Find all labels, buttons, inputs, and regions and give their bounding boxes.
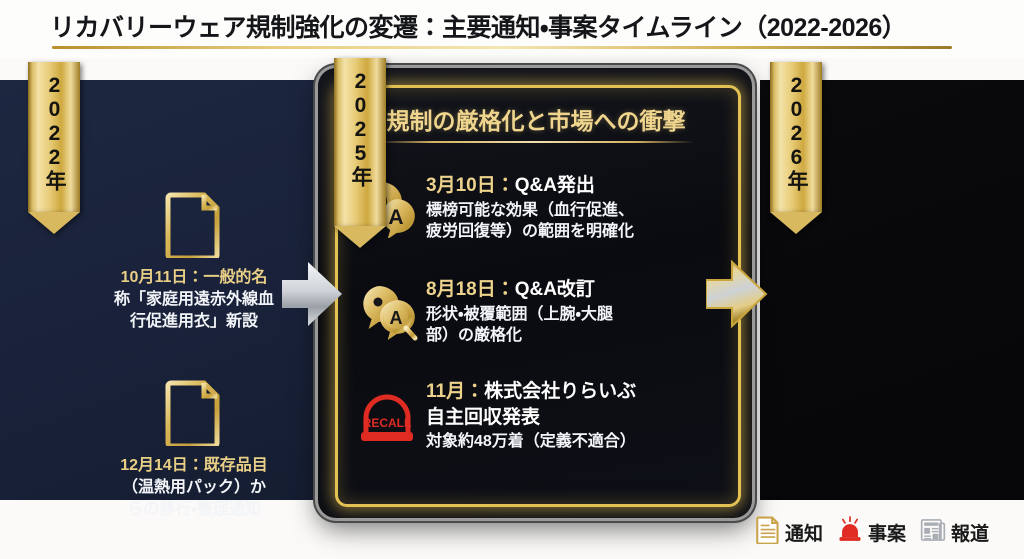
legend-label: 通知 bbox=[785, 519, 823, 546]
ribbon-label: 2025年 bbox=[334, 58, 386, 200]
event-desc-line: 行促進用衣」新設 bbox=[96, 311, 292, 333]
legend-item-press: 報道 bbox=[920, 517, 989, 548]
event-title-rest: Q&A改訂 bbox=[515, 279, 595, 300]
event-date: 11月： bbox=[426, 381, 484, 402]
event-desc-line: らの移行・整理通知 bbox=[96, 499, 292, 521]
event-title: 3月10日：Q&A発出 bbox=[426, 174, 718, 199]
arrow-2025-to-2026 bbox=[706, 258, 768, 330]
event-2025-recall-november: RECALL 11月：株式会社りらいぶ 自主回収発表 対象約48万着（定義不適合… bbox=[356, 380, 718, 453]
card-heading-rule bbox=[376, 141, 694, 143]
event-2022-notice-1214: 12月14日：既存品目 （温熱用パック）か らの移行・整理通知 bbox=[96, 380, 292, 521]
event-2025-qa-0310: Q A 3月10日：Q&A発出 標榜可能な効果（血行促進、 疲労回復等）の範囲を… bbox=[356, 174, 718, 243]
ribbon-label: 2022年 bbox=[28, 62, 80, 204]
event-desc-line: 標榜可能な効果（血行促進、 bbox=[426, 200, 718, 221]
event-title: 10月11日：一般的名 bbox=[96, 267, 292, 289]
ribbon-tail bbox=[334, 226, 386, 248]
ribbon-2026: 2026年 bbox=[770, 62, 822, 234]
ribbon-tail bbox=[770, 212, 822, 234]
event-title-rest: 株式会社りらいぶ bbox=[484, 381, 636, 402]
ribbon-2022: 2022年 bbox=[28, 62, 80, 234]
event-title-rest: Q&A発出 bbox=[515, 175, 595, 196]
ribbon-tail bbox=[28, 212, 80, 234]
title-gold-rule bbox=[52, 46, 952, 49]
qa-magnifier-icon: A bbox=[356, 284, 418, 347]
event-title: 12月14日：既存品目 bbox=[96, 455, 292, 477]
title-bar: リカバリーウェア規制強化の変遷：主要通知・事案タイムライン（2022-2026） bbox=[0, 0, 1024, 58]
ribbon-body: 2022年 bbox=[28, 62, 80, 212]
arrow-2022-to-2025 bbox=[282, 258, 344, 330]
event-desc-line: （温熱用パック）か bbox=[96, 477, 292, 499]
document-icon bbox=[96, 380, 292, 451]
svg-text:RECALL: RECALL bbox=[363, 416, 412, 430]
legend: 通知 事案 bbox=[756, 516, 989, 549]
ribbon-body: 2025年 bbox=[334, 58, 386, 226]
page-title: リカバリーウェア規制強化の変遷：主要通知・事案タイムライン（2022-2026） bbox=[50, 8, 906, 44]
recall-siren-icon: RECALL bbox=[356, 386, 418, 453]
legend-item-incident: 事案 bbox=[837, 516, 906, 549]
ribbon-2025: 2025年 bbox=[334, 58, 386, 248]
legend-item-notice: 通知 bbox=[756, 516, 823, 549]
event-date: 8月18日： bbox=[426, 279, 515, 300]
event-date: 3月10日： bbox=[426, 175, 515, 196]
event-2022-notice-1011: 10月11日：一般的名 称「家庭用遠赤外線血 行促進用衣」新設 bbox=[96, 192, 292, 333]
legend-label: 事案 bbox=[868, 519, 906, 546]
svg-text:A: A bbox=[390, 308, 403, 328]
event-desc-line: 対象約48万着（定義不適合） bbox=[426, 431, 718, 452]
event-desc-line: 疲労回復等）の範囲を明確化 bbox=[426, 221, 718, 242]
event-title: 11月：株式会社りらいぶ bbox=[426, 380, 718, 405]
document-icon bbox=[96, 192, 292, 263]
event-desc-line: 部）の厳格化 bbox=[426, 325, 718, 346]
ribbon-label: 2026年 bbox=[770, 62, 822, 204]
event-desc-line: 形状・被覆範囲（上腕・大腿 bbox=[426, 304, 718, 325]
ribbon-body: 2026年 bbox=[770, 62, 822, 212]
event-title-line2: 自主回収発表 bbox=[426, 406, 718, 431]
siren-icon bbox=[837, 516, 863, 549]
event-desc-line: 称「家庭用遠赤外線血 bbox=[96, 289, 292, 311]
document-icon bbox=[756, 516, 780, 549]
newspaper-icon bbox=[920, 517, 946, 548]
event-2025-qa-0818: A 8月18日：Q&A改訂 形状・被覆範囲（上腕・大腿 部）の厳格化 bbox=[356, 278, 718, 347]
legend-label: 報道 bbox=[951, 519, 989, 546]
event-title: 8月18日：Q&A改訂 bbox=[426, 278, 718, 303]
card-heading: 規制の厳格化と市場への衝撃 bbox=[358, 102, 714, 136]
svg-text:A: A bbox=[388, 206, 403, 229]
